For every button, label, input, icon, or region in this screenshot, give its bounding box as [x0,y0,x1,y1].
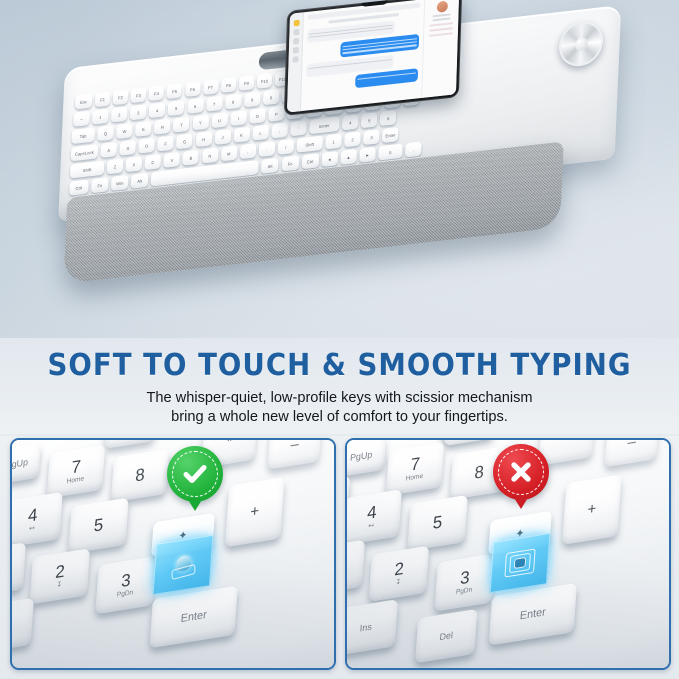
membrane-switch-graphic [490,533,551,593]
numpad-key[interactable]: 1End [347,540,365,596]
key-6[interactable]: 6 [380,110,397,126]
numpad-key-sublabel: PgUp [12,458,28,471]
check-icon [180,459,210,489]
hero-section: EscF1F2F3F4F5F6F7F8F9F10F11F12Del~123456… [0,0,679,340]
key-b[interactable]: B [183,150,200,166]
key-8[interactable]: 8 [225,94,242,110]
numpad-key[interactable]: Clear [105,440,157,449]
subtitle: The whisper-quiet, low-profile keys with… [80,389,600,427]
numpad-key-sublabel: Home [405,474,423,484]
key-f9[interactable]: F9 [239,75,255,91]
numpad-key[interactable]: 4↤ [12,492,63,548]
key-7[interactable]: 7 [206,96,223,112]
contact-panel [421,0,459,98]
numpad-key[interactable]: 5 [68,498,129,554]
numpad-key[interactable]: 4↤ [347,489,402,545]
membrane-switch-panel: PgUpNumClearBackPgDn7Home8*–4↤51End2↧3Pg… [345,438,671,670]
key-3[interactable]: 3 [130,104,147,120]
membrane-dome-detail [504,545,536,580]
numpad-key-label: 5 [93,516,104,536]
key-l[interactable]: L [252,125,269,141]
message-bubble-outgoing [355,68,418,88]
key-fn[interactable]: Fn [91,177,109,193]
key-k[interactable]: K [233,127,250,143]
key-5[interactable]: 5 [168,100,185,116]
key-2[interactable]: 2 [111,107,128,123]
numpad-key[interactable]: 8 [111,449,169,503]
key-m[interactable]: M [221,145,238,161]
numpad-key-sublabel: PgDn [117,590,134,600]
numpad-key-sublabel: ↤ [29,526,35,534]
scissor-mechanism-detail [169,550,197,581]
key-g[interactable]: G [176,133,193,149]
key-f6[interactable]: F6 [185,81,201,97]
key-f2[interactable]: F2 [113,89,129,105]
cross-icon [507,458,535,486]
numpad-key[interactable]: Ins [12,598,34,655]
key-c[interactable]: C [145,154,162,170]
numpad-key[interactable]: + [225,477,285,547]
key-f10[interactable]: F10 [257,73,273,89]
key-alt[interactable]: Alt [261,158,279,174]
numpad-key[interactable]: PgUp [12,443,41,485]
key-blank[interactable]: ; [271,122,288,138]
phone-screen [287,0,459,113]
key-f8[interactable]: F8 [221,77,237,93]
numpad-key-label: 4 [367,503,378,523]
key-enter[interactable]: Enter [309,117,339,135]
page-title: SOFT TO TOUCH & SMOOTH TYPING [27,350,652,382]
numpad-key-sublabel: ↤ [368,523,374,531]
key-f7[interactable]: F7 [203,79,219,95]
key-0[interactable]: 0 [378,144,402,161]
key-y[interactable]: Y [192,114,209,130]
key-esc[interactable]: Esc [75,93,93,109]
key-w[interactable]: W [116,123,133,139]
key-blank[interactable]: ► [359,147,376,163]
numpad-key-label: 8 [135,466,146,486]
numpad-key-label: * [226,440,233,451]
key-n[interactable]: N [202,148,219,164]
key-tab[interactable]: Tab [71,127,94,144]
scissor-switch-panel: PgUpClearBack7Home8*–4↤51End2↧3PgDn+InsE… [10,438,336,670]
key-r[interactable]: R [154,119,171,135]
numpad-key-sublabel: Enter [519,607,546,623]
key-z[interactable]: Z [107,158,124,174]
key-f5[interactable]: F5 [167,83,183,99]
numpad-key[interactable]: Del [415,609,477,663]
numpad-key-label: 3 [121,571,132,591]
key-o[interactable]: O [249,108,266,124]
numpad-key-sublabel: PgUp [350,450,373,463]
key-2[interactable]: 2 [344,131,361,147]
numpad-key-label: 3 [460,569,471,589]
numpad-key[interactable]: – [267,440,321,470]
key-u[interactable]: U [211,112,228,128]
numpad-key-label: 4 [27,506,38,526]
key-t[interactable]: T [173,117,190,133]
key-0[interactable]: 0 [263,89,280,105]
numpad-key[interactable]: Ins [347,599,398,656]
key-1[interactable]: 1 [325,133,342,149]
key-blank[interactable]: ◄ [321,151,338,167]
key-3[interactable]: 3 [363,129,380,145]
key-1[interactable]: 1 [92,109,109,125]
numpad-key-label: * [563,440,570,448]
numpad-key[interactable]: 2↧ [369,546,430,602]
numpad-key-sublabel: Enter [180,609,207,625]
numpad-key-label: + [587,501,597,518]
numpad-key-sublabel: ↧ [395,579,401,587]
numpad-key-label: 7 [410,455,421,475]
numpad-key[interactable]: PgUp [347,440,386,477]
comparison-panels: PgUpClearBack7Home8*–4↤51End2↧3PgDn+InsE… [0,436,679,679]
key-j[interactable]: J [214,129,231,145]
numpad-key[interactable]: 7Home [47,445,105,499]
key-enter[interactable]: Enter [382,127,399,143]
chat-thread [301,0,424,111]
key-blank[interactable]: . [405,141,422,157]
key-f4[interactable]: F4 [149,85,165,101]
key-a[interactable]: A [101,142,118,158]
subtitle-line-2: bring a whole new level of comfort to yo… [171,409,508,425]
key-blank[interactable]: ~ [73,111,90,127]
key-alt[interactable]: Alt [131,173,149,189]
numpad-key-sublabel: Ins [359,622,372,634]
numpad-key-label: 2 [55,562,66,582]
numpad-key-label: + [250,503,260,520]
key-f1[interactable]: F1 [95,91,111,107]
key-capslock[interactable]: CapsLock [71,144,98,161]
key-6[interactable]: 6 [187,98,204,114]
green-check-badge [167,446,223,502]
docked-smartphone [284,0,462,116]
numpad-key[interactable]: – [605,440,659,467]
key-9[interactable]: 9 [244,91,261,107]
contact-avatar [436,1,447,13]
key-blank[interactable]: , [240,143,257,159]
red-cross-badge [493,444,549,500]
numpad-key[interactable]: + [562,475,622,545]
numpad-key-sublabel: ↧ [56,582,62,590]
numpad-key-label: 8 [474,463,485,483]
numpad-key[interactable]: 2↧ [29,548,90,604]
key-i[interactable]: I [230,110,247,126]
key-fn[interactable]: Fn [281,155,299,171]
copy-block: SOFT TO TOUCH & SMOOTH TYPING The whispe… [0,338,679,434]
numpad-key-label: – [627,440,636,451]
key-ctrl[interactable]: Ctrl [301,153,319,169]
key-h[interactable]: H [195,131,212,147]
numpad-key-sublabel: Del [439,631,453,643]
numpad-key-label: 2 [394,560,405,580]
key-blank[interactable]: . [259,141,276,157]
numpad-key[interactable]: 1End [12,542,26,598]
numpad-key-label: – [290,440,299,454]
key-q[interactable]: Q [97,125,114,141]
numpad-key-label: 7 [71,458,82,478]
key-v[interactable]: V [164,152,181,168]
key-shift[interactable]: Shift [297,136,323,153]
key-blank[interactable]: ▲ [340,149,357,165]
key-p[interactable]: P [268,106,285,122]
scissor-switch-graphic [153,535,214,595]
numpad-key[interactable]: 7Home [386,442,444,496]
key-s[interactable]: S [120,140,137,156]
key-d[interactable]: D [139,138,156,154]
key-4[interactable]: 4 [149,102,166,118]
key-ctrl[interactable]: Ctrl [69,179,88,195]
key-f[interactable]: F [158,135,175,151]
key-5[interactable]: 5 [361,112,378,128]
key-x[interactable]: X [126,156,143,172]
key-blank[interactable]: ' [290,120,307,136]
numpad-key-sublabel: Home [66,476,84,486]
key-win[interactable]: Win [111,175,129,191]
numpad-key-label: 5 [432,513,443,533]
product-image: EscF1F2F3F4F5F6F7F8F9F10F11F12Del~123456… [0,0,679,679]
subtitle-line-1: The whisper-quiet, low-profile keys with… [146,390,532,406]
key-f3[interactable]: F3 [131,87,147,103]
key-e[interactable]: E [135,121,152,137]
key-blank[interactable]: / [278,139,295,155]
numpad-key[interactable]: 5 [407,495,468,551]
numpad-key-sublabel: PgDn [456,587,473,597]
key-shift[interactable]: Shift [70,160,104,178]
key-4[interactable]: 4 [342,114,359,130]
numpad-key[interactable]: Clear [444,440,495,446]
